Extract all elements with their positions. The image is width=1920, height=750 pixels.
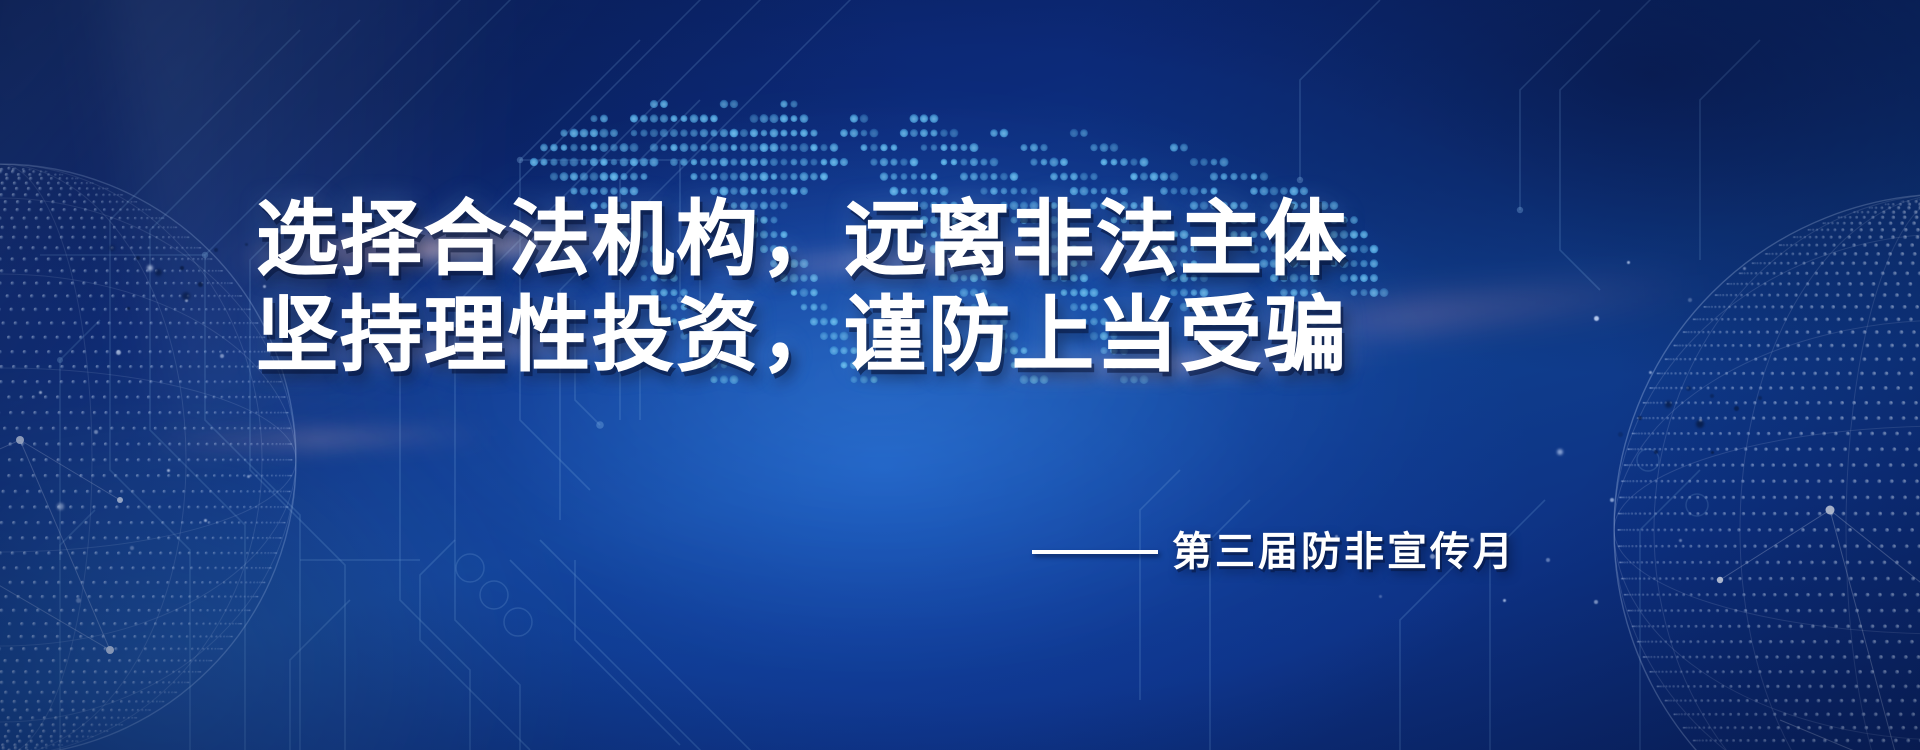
promo-banner: 选择合法机构，远离非法主体 坚持理性投资，谨防上当受骗 第三届防非宣传月 — [0, 0, 1920, 750]
headline-line-1: 选择合法机构，远离非法主体 — [256, 192, 1376, 288]
subtitle-dash-rule — [1032, 550, 1158, 554]
banner-content: 选择合法机构，远离非法主体 坚持理性投资，谨防上当受骗 第三届防非宣传月 — [0, 0, 1920, 750]
headline-block: 选择合法机构，远离非法主体 坚持理性投资，谨防上当受骗 — [256, 192, 1376, 384]
subtitle-block: 第三届防非宣传月 — [0, 528, 1516, 576]
subtitle-text: 第三届防非宣传月 — [1172, 528, 1516, 576]
headline-line-2: 坚持理性投资，谨防上当受骗 — [256, 288, 1376, 384]
